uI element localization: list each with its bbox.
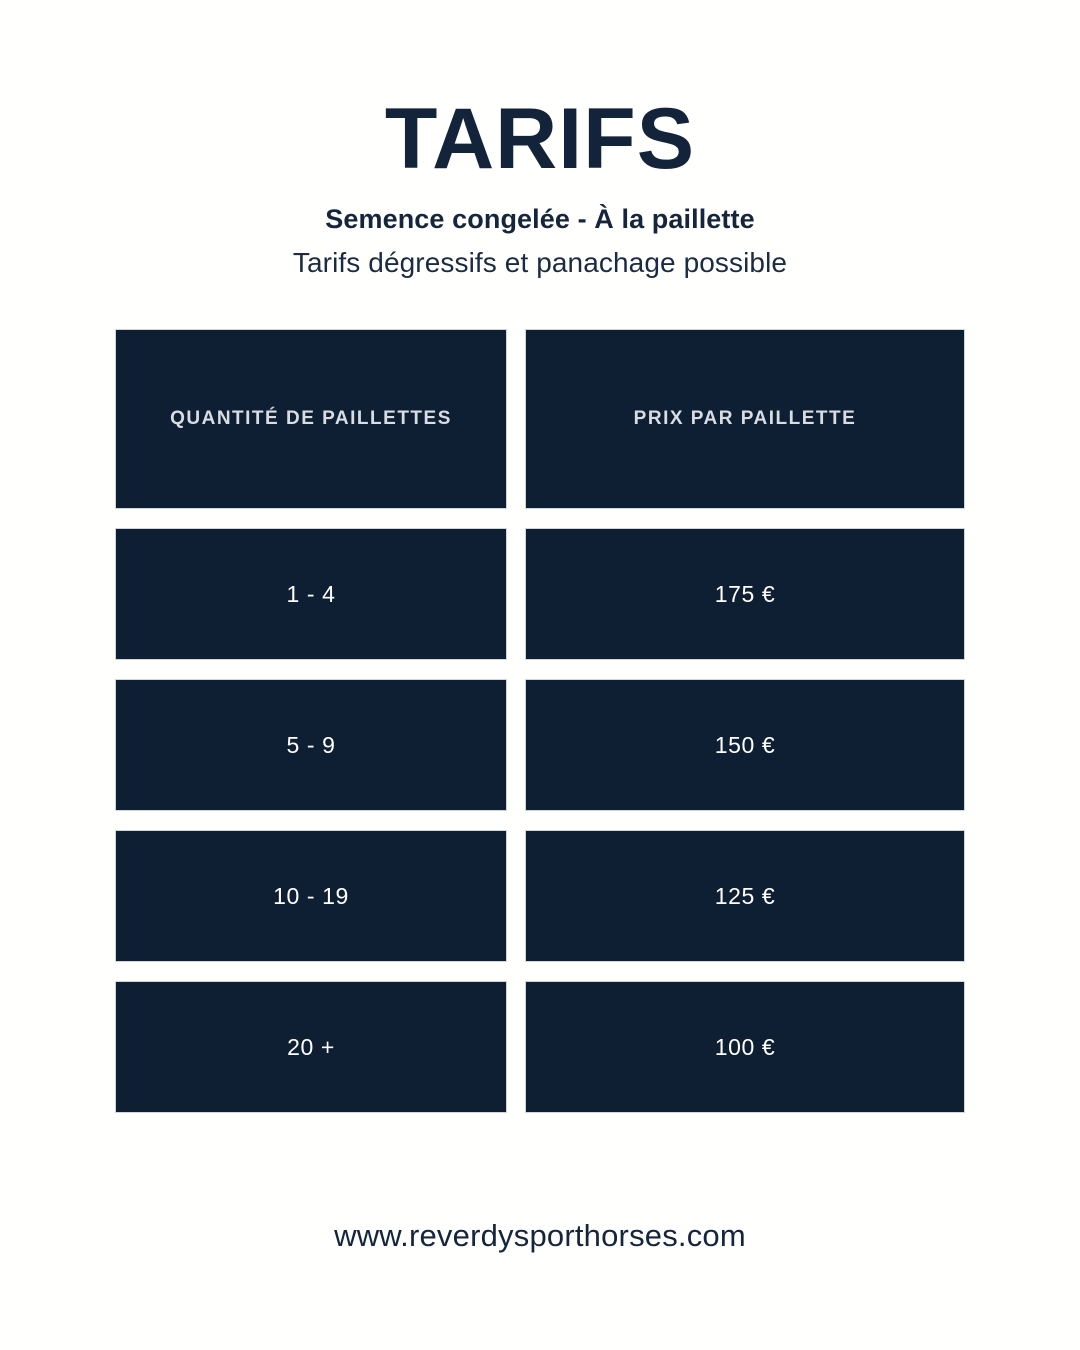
table-row: 20 + 100 € xyxy=(116,982,964,1112)
cell-quantity: 1 - 4 xyxy=(116,529,506,659)
cell-quantity: 20 + xyxy=(116,982,506,1112)
cell-quantity: 5 - 9 xyxy=(116,680,506,810)
cell-price: 175 € xyxy=(526,529,964,659)
pricing-table: QUANTITÉ DE PAILLETTES PRIX PAR PAILLETT… xyxy=(116,330,964,1112)
poster-subtitle: Semence congelée - À la paillette xyxy=(0,204,1080,235)
cell-quantity-value: 5 - 9 xyxy=(286,732,335,759)
table-row: 10 - 19 125 € xyxy=(116,831,964,961)
cell-quantity: 10 - 19 xyxy=(116,831,506,961)
cell-price: 125 € xyxy=(526,831,964,961)
pricing-poster: TARIFS Semence congelée - À la paillette… xyxy=(0,0,1080,1350)
column-header-price-label: PRIX PAR PAILLETTE xyxy=(634,408,857,430)
poster-header: TARIFS Semence congelée - À la paillette… xyxy=(0,0,1080,279)
column-header-quantity-label: QUANTITÉ DE PAILLETTES xyxy=(170,408,452,430)
cell-price: 100 € xyxy=(526,982,964,1112)
column-header-price: PRIX PAR PAILLETTE xyxy=(526,330,964,508)
cell-price-value: 125 € xyxy=(715,883,776,910)
page-title: TARIFS xyxy=(0,96,1080,182)
table-row: 5 - 9 150 € xyxy=(116,680,964,810)
poster-footer: www.reverdysporthorses.com xyxy=(0,1218,1080,1254)
cell-price: 150 € xyxy=(526,680,964,810)
table-header-row: QUANTITÉ DE PAILLETTES PRIX PAR PAILLETT… xyxy=(116,330,964,508)
cell-price-value: 175 € xyxy=(715,581,776,608)
cell-quantity-value: 10 - 19 xyxy=(273,883,349,910)
poster-tagline: Tarifs dégressifs et panachage possible xyxy=(0,247,1080,279)
cell-quantity-value: 1 - 4 xyxy=(286,581,335,608)
website-url[interactable]: www.reverdysporthorses.com xyxy=(334,1218,746,1253)
table-row: 1 - 4 175 € xyxy=(116,529,964,659)
cell-price-value: 150 € xyxy=(715,732,776,759)
cell-price-value: 100 € xyxy=(715,1034,776,1061)
cell-quantity-value: 20 + xyxy=(287,1034,335,1061)
column-header-quantity: QUANTITÉ DE PAILLETTES xyxy=(116,330,506,508)
